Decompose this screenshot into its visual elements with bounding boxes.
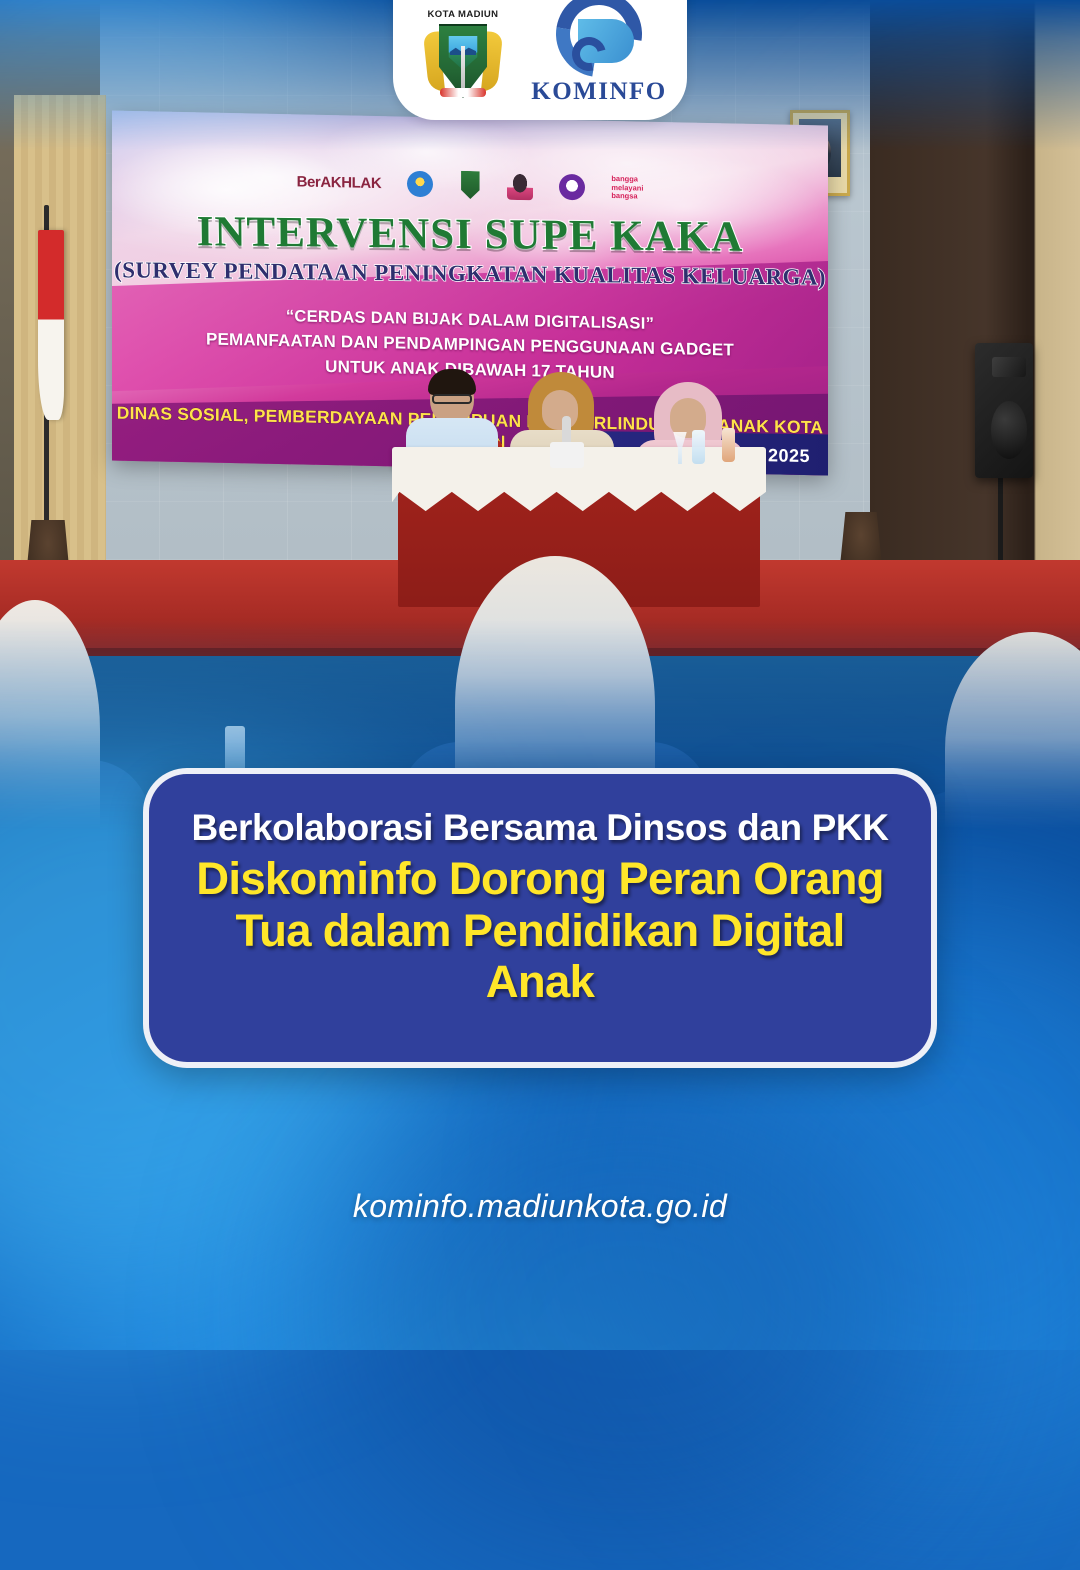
indonesia-flag — [38, 230, 64, 420]
banner-title: INTERVENSI SUPE KAKA — [112, 206, 828, 263]
event-photo-content: BerAKHLAK banggamelayanibangsa INTERVENS… — [0, 0, 1080, 850]
headline-card: Berkolaborasi Bersama Dinsos dan PKK Dis… — [143, 768, 937, 1068]
bangga-melayani-bangsa-logo: banggamelayanibangsa — [611, 173, 643, 204]
pkk-logo — [407, 169, 433, 200]
perlindungan-anak-logo — [559, 172, 585, 203]
kota-madiun-logo-group: KOTA MADIUN — [411, 9, 515, 106]
kota-madiun-logo — [459, 170, 481, 200]
berakhlak-logo: BerAKHLAK — [297, 166, 382, 198]
kominfo-logo-icon — [556, 0, 642, 77]
kota-madiun-crest-icon — [424, 22, 502, 106]
table-skirt — [392, 465, 766, 529]
headline-kicker: Berkolaborasi Bersama Dinsos dan PKK — [191, 808, 888, 849]
header-logo-badge: KOTA MADIUN KOMINFO — [393, 0, 687, 120]
right-wall — [870, 0, 1080, 650]
headline-title: Diskominfo Dorong Peran Orang Tua dalam … — [189, 853, 891, 1009]
glow-blob — [320, 1050, 940, 1570]
water-bottle — [692, 430, 705, 464]
kota-madiun-label: KOTA MADIUN — [428, 9, 499, 20]
pa-speaker — [975, 343, 1033, 478]
madiun-dance-logo — [507, 171, 533, 202]
kominfo-wordmark: KOMINFO — [531, 78, 667, 106]
event-photo: BerAKHLAK banggamelayanibangsa INTERVENS… — [0, 0, 1080, 850]
website-url: kominfo.madiunkota.go.id — [0, 1188, 1080, 1225]
tissue-box — [550, 442, 584, 468]
water-bottle — [722, 428, 735, 462]
kominfo-logo-group: KOMINFO — [529, 0, 669, 106]
